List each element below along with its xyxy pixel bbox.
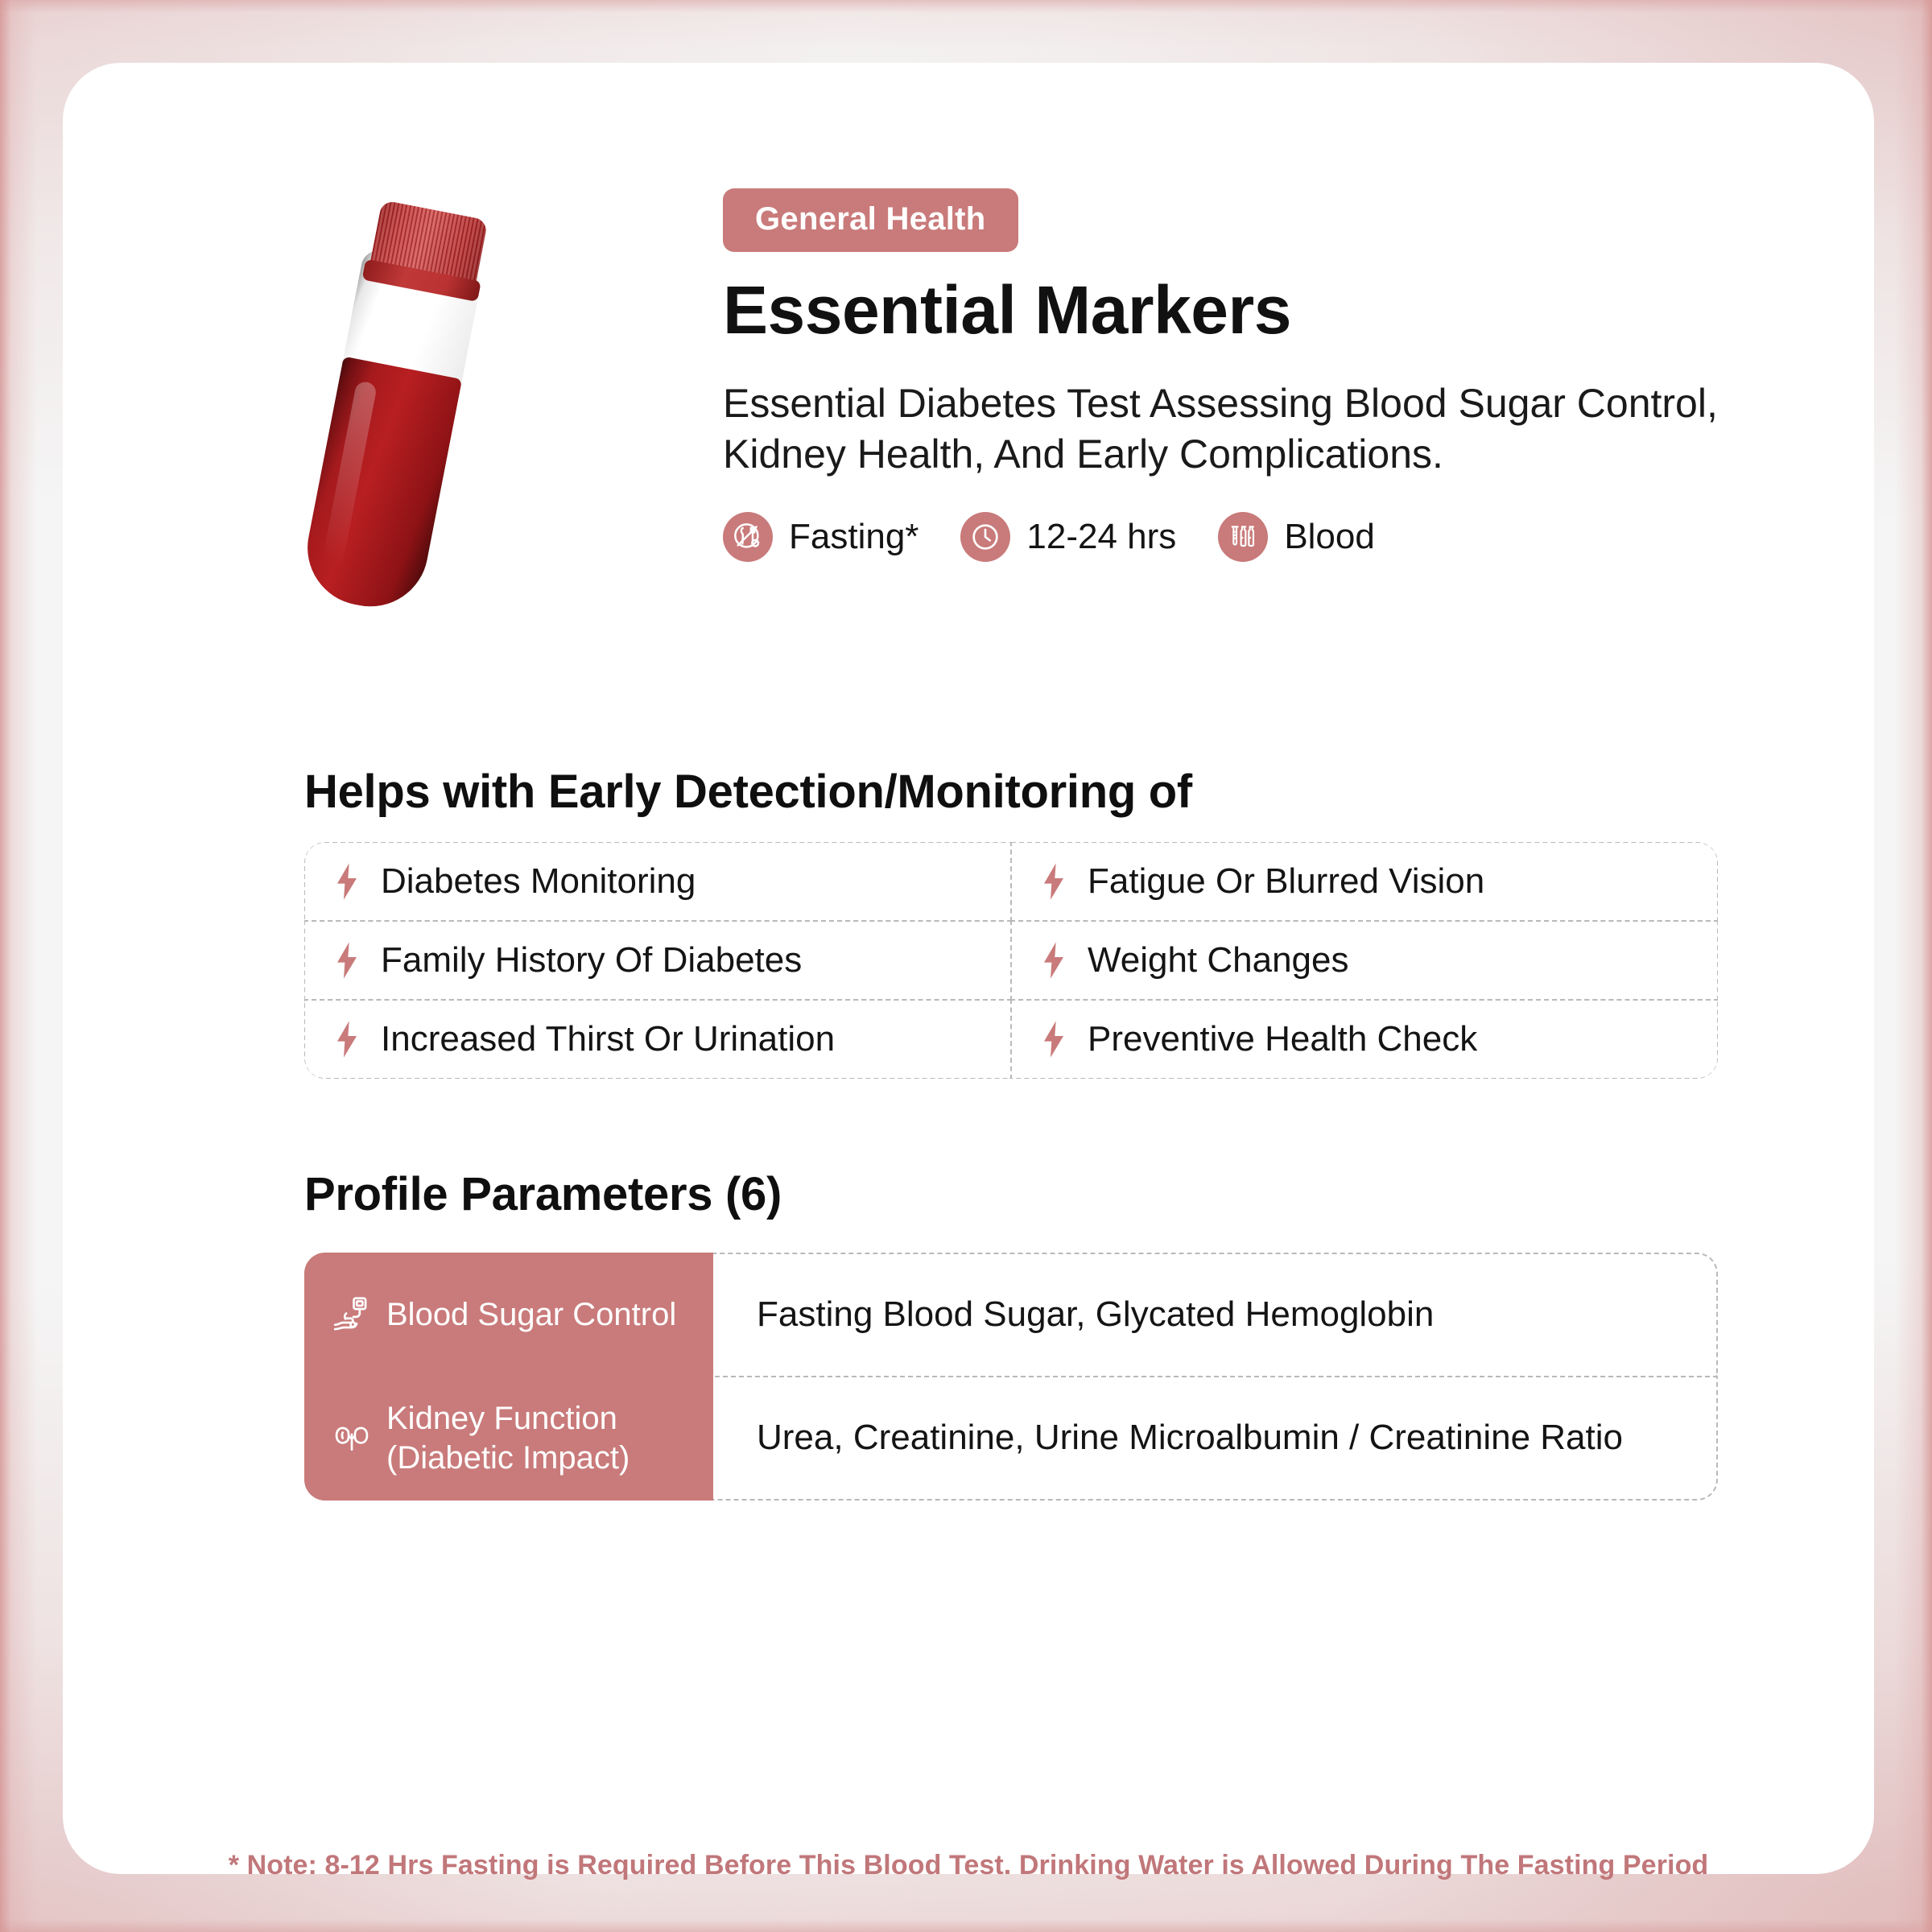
detection-item-1: Fatigue Or Blurred Vision xyxy=(1010,842,1718,922)
parameter-key-label: Kidney Function (Diabetic Impact) xyxy=(386,1399,692,1478)
tube-glass xyxy=(298,247,484,617)
lightning-bolt-icon xyxy=(1041,863,1067,900)
lightning-bolt-icon xyxy=(1041,1021,1067,1058)
page-title: Essential Markers xyxy=(723,275,1794,346)
blood-tube-icon xyxy=(298,198,493,616)
detection-item-5: Preventive Health Check xyxy=(1010,999,1718,1079)
detection-item-label: Family History Of Diabetes xyxy=(381,940,802,980)
meta-label-duration: 12-24 hrs xyxy=(1026,517,1176,557)
meta-item-sample: Blood xyxy=(1218,512,1375,562)
page-subtitle: Essential Diabetes Test Assessing Blood … xyxy=(723,378,1761,480)
meta-label-fasting: Fasting* xyxy=(789,517,919,557)
meta-item-fasting: Fasting* xyxy=(723,512,919,562)
parameters-table: Blood Sugar Control Fasting Blood Sugar,… xyxy=(304,1253,1718,1499)
parameter-key-cell: Kidney Function (Diabetic Impact) xyxy=(304,1376,713,1501)
glucometer-icon xyxy=(332,1295,372,1335)
detection-item-label: Increased Thirst Or Urination xyxy=(381,1019,835,1059)
meta-label-sample: Blood xyxy=(1284,517,1375,557)
hero-section: General Health Essential Markers Essenti… xyxy=(63,184,1874,634)
parameter-key-cell: Blood Sugar Control xyxy=(304,1253,713,1377)
parameter-row: Kidney Function (Diabetic Impact) Urea, … xyxy=(304,1376,1718,1501)
parameter-value: Urea, Creatinine, Urine Microalbumin / C… xyxy=(712,1377,1716,1499)
detection-item-0: Diabetes Monitoring xyxy=(304,842,1012,922)
detection-item-label: Preventive Health Check xyxy=(1088,1019,1477,1059)
parameter-key-label: Blood Sugar Control xyxy=(386,1295,676,1335)
detection-item-3: Weight Changes xyxy=(1010,920,1718,1001)
hero-text-block: General Health Essential Markers Essenti… xyxy=(723,188,1794,562)
detection-item-4: Increased Thirst Or Urination xyxy=(304,999,1012,1079)
blood-vials-icon xyxy=(1218,512,1268,562)
detection-heading: Helps with Early Detection/Monitoring of xyxy=(304,765,1192,819)
detection-grid: Diabetes Monitoring Fatigue Or Blurred V… xyxy=(304,842,1718,1079)
parameter-value: Fasting Blood Sugar, Glycated Hemoglobin xyxy=(712,1254,1716,1376)
page-backdrop: General Health Essential Markers Essenti… xyxy=(0,0,1932,1932)
lightning-bolt-icon xyxy=(334,942,360,979)
category-badge: General Health xyxy=(723,188,1018,252)
footer-note: * Note: 8-12 Hrs Fasting is Required Bef… xyxy=(63,1850,1874,1881)
detection-item-label: Fatigue Or Blurred Vision xyxy=(1088,861,1484,902)
parameter-row: Blood Sugar Control Fasting Blood Sugar,… xyxy=(304,1253,1718,1377)
lightning-bolt-icon xyxy=(334,863,360,900)
detection-item-label: Diabetes Monitoring xyxy=(381,861,696,902)
clock-icon xyxy=(960,512,1010,562)
no-food-fasting-icon xyxy=(723,512,773,562)
detection-item-2: Family History Of Diabetes xyxy=(304,920,1012,1001)
meta-item-duration: 12-24 hrs xyxy=(960,512,1176,562)
kidneys-icon xyxy=(332,1418,372,1459)
tube-blood-fill xyxy=(298,357,462,617)
blood-test-tube-image xyxy=(296,184,562,634)
detection-item-label: Weight Changes xyxy=(1088,940,1349,980)
parameters-heading: Profile Parameters (6) xyxy=(304,1167,782,1221)
lightning-bolt-icon xyxy=(1041,942,1067,979)
product-card: General Health Essential Markers Essenti… xyxy=(63,63,1874,1874)
lightning-bolt-icon xyxy=(334,1021,360,1058)
meta-row: Fasting* 12-24 hrs xyxy=(723,512,1794,562)
